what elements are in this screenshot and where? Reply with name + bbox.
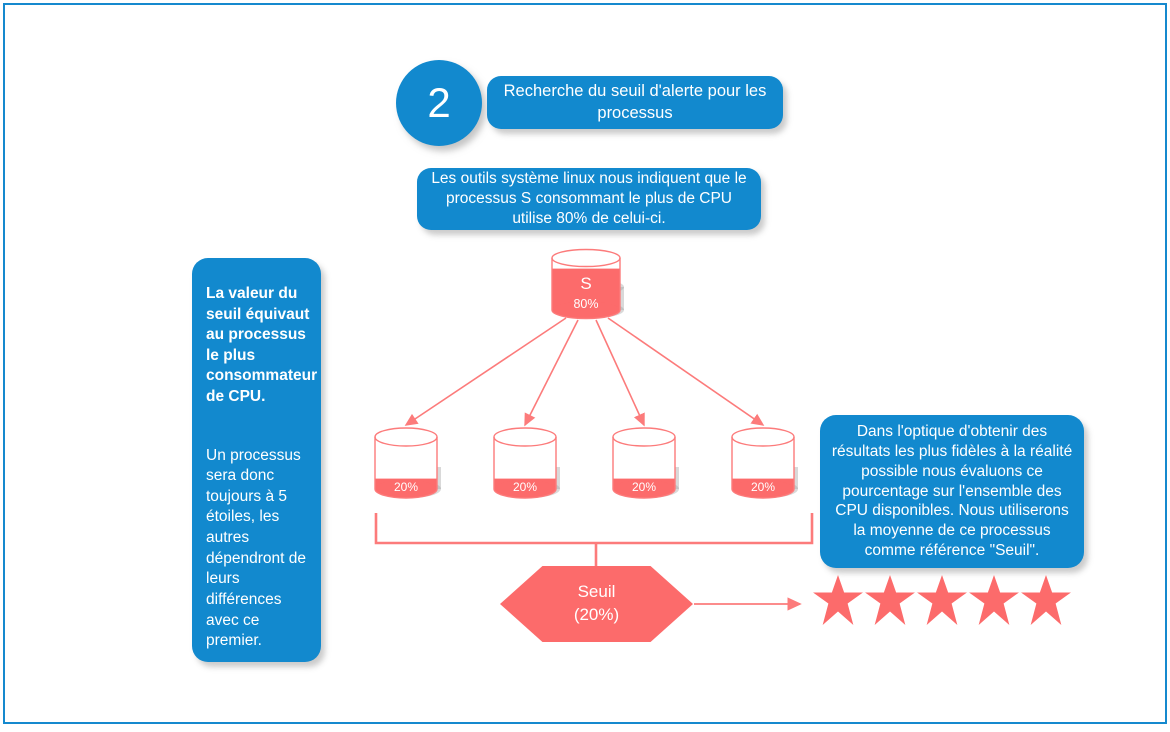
threshold-label: Seuil [578,581,616,604]
star-icon [916,575,968,625]
left-explanation-panel: La valeur du seuil équivaut au processus… [192,258,321,662]
step-number-badge: 2 [396,60,482,146]
star-rating [812,575,1072,625]
threshold-hexagon: Seuil (20%) [500,566,693,642]
right-explanation-panel: Dans l'optique d'obtenir des résultats l… [820,415,1084,568]
cpu-cylinder-3: 20% [612,427,676,499]
step-number-label: 2 [427,79,450,127]
right-panel-text: Dans l'optique d'obtenir des résultats l… [830,422,1074,561]
main-process-cylinder: S 80% [551,249,621,319]
step-title-label: Recherche du seuil d'alerte pour les pro… [501,81,769,123]
cpu-cylinder-2: 20% [493,427,557,499]
threshold-hexagon-text: Seuil (20%) [500,566,693,642]
left-panel-body-text: Un processus sera donc toujours à 5 étoi… [206,446,307,652]
star-icon [812,575,864,625]
cpu-cylinder-1: 20% [374,427,438,499]
star-icon [1020,575,1072,625]
threshold-value: (20%) [574,604,619,627]
info-callout-label: Les outils système linux nous indiquent … [429,169,749,228]
star-icon-shape [864,575,916,625]
left-panel-bold-text: La valeur du seuil équivaut au processus… [206,284,317,408]
star-icon [968,575,1020,625]
step-title-box: Recherche du seuil d'alerte pour les pro… [487,76,783,129]
star-icon-shape [1020,575,1072,625]
star-icon-shape [916,575,968,625]
star-icon [864,575,916,625]
info-callout-box: Les outils système linux nous indiquent … [417,168,761,230]
cpu-cylinder-4: 20% [731,427,795,499]
fanout-arrows [406,318,763,425]
aggregation-bracket [376,513,812,570]
diagram-canvas: 2 Recherche du seuil d'alerte pour les p… [0,0,1170,732]
star-icon-shape [968,575,1020,625]
star-icon-shape [812,575,864,625]
